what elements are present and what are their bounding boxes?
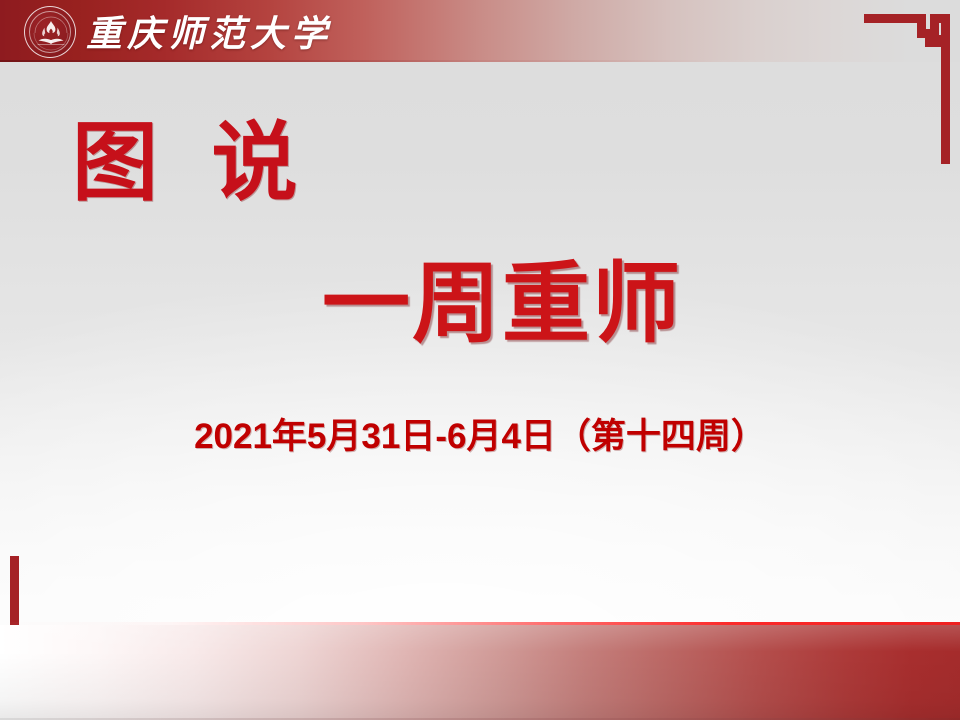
chinese-meander-corner-icon: [864, 8, 950, 164]
header-underline-divider: [0, 60, 960, 62]
footer-gradient-fill: [0, 625, 960, 720]
university-name-logotype: 重庆师范大学: [86, 5, 332, 57]
university-seal-icon: [24, 6, 76, 58]
presentation-slide: 重庆师范大学: [0, 0, 960, 720]
brush-title: 图 说: [72, 118, 314, 208]
footer-band: [0, 622, 960, 720]
corner-ornament-top-right: [864, 8, 950, 164]
date-range-subtitle: 2021年5月31日-6月4日（第十四周）: [0, 408, 960, 459]
main-title: 一周重师: [322, 258, 682, 350]
